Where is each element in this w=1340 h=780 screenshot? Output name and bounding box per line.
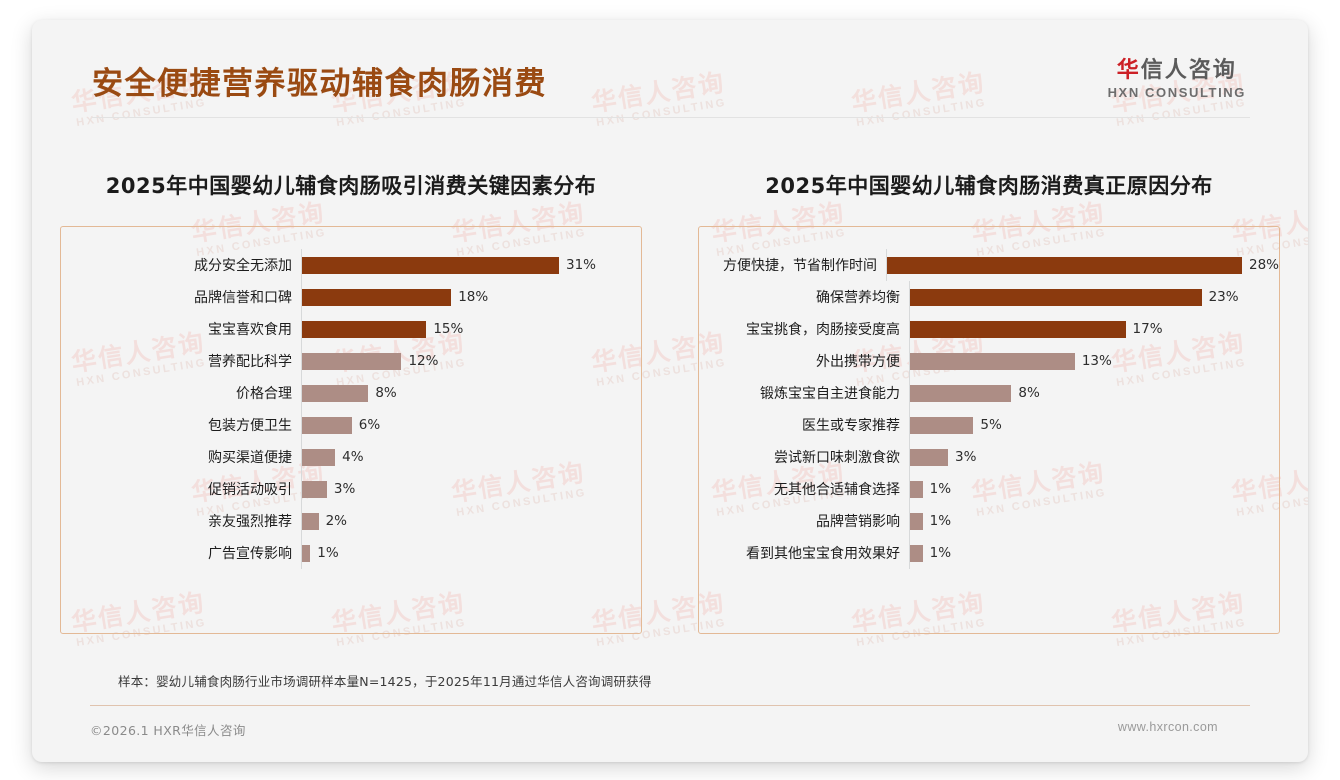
- bar-category-label: 品牌营销影响: [699, 511, 909, 531]
- bar-rows-right: 方便快捷，节省制作时间28%确保营养均衡23%宝宝挑食，肉肠接受度高17%外出携…: [699, 249, 1279, 569]
- bar-value-label: 23%: [1209, 289, 1239, 305]
- bar-value-label: 3%: [955, 449, 976, 465]
- chart-frame-right: 方便快捷，节省制作时间28%确保营养均衡23%宝宝挑食，肉肠接受度高17%外出携…: [698, 226, 1280, 634]
- bar-row: 购买渠道便捷4%: [61, 441, 641, 473]
- page-title: 安全便捷营养驱动辅食肉肠消费: [92, 58, 547, 103]
- bar-category-label: 宝宝喜欢食用: [61, 319, 301, 339]
- bar: [302, 513, 319, 530]
- bar-row: 成分安全无添加31%: [61, 249, 641, 281]
- bar-row: 价格合理8%: [61, 377, 641, 409]
- bar: [302, 545, 310, 562]
- bar-category-label: 尝试新口味刺激食欲: [699, 447, 909, 467]
- bar-track: 1%: [909, 537, 1279, 569]
- bar-track: 8%: [301, 377, 641, 409]
- chart-frame-left: 成分安全无添加31%品牌信誉和口碑18%宝宝喜欢食用15%营养配比科学12%价格…: [60, 226, 642, 634]
- bar-category-label: 价格合理: [61, 383, 301, 403]
- bar-value-label: 15%: [433, 321, 463, 337]
- slide-footer: ©2026.1 HXR华信人咨询 www.hxrcon.com: [32, 720, 1308, 740]
- bar-category-label: 营养配比科学: [61, 351, 301, 371]
- bar-track: 6%: [301, 409, 641, 441]
- bar-track: 1%: [301, 537, 641, 569]
- bar-track: 17%: [909, 313, 1279, 345]
- bar-track: 23%: [909, 281, 1279, 313]
- bar-row: 尝试新口味刺激食欲3%: [699, 441, 1279, 473]
- bar-category-label: 确保营养均衡: [699, 287, 909, 307]
- bar-category-label: 方便快捷，节省制作时间: [699, 255, 886, 275]
- bar-category-label: 成分安全无添加: [61, 255, 301, 275]
- bar-value-label: 3%: [334, 481, 355, 497]
- bar: [302, 321, 426, 338]
- bar: [910, 417, 973, 434]
- bar-value-label: 17%: [1133, 321, 1163, 337]
- bar-track: 28%: [886, 249, 1279, 281]
- bar-value-label: 28%: [1249, 257, 1279, 273]
- bar-row: 营养配比科学12%: [61, 345, 641, 377]
- bar-category-label: 无其他合适辅食选择: [699, 479, 909, 499]
- bar-value-label: 1%: [317, 545, 338, 561]
- bar-track: 31%: [301, 249, 641, 281]
- bar: [302, 289, 451, 306]
- bar: [302, 257, 559, 274]
- bar-value-label: 2%: [326, 513, 347, 529]
- bar-row: 无其他合适辅食选择1%: [699, 473, 1279, 505]
- bar-value-label: 8%: [375, 385, 396, 401]
- sample-note: 样本：婴幼儿辅食肉肠行业市场调研样本量N=1425，于2025年11月通过华信人…: [118, 671, 652, 690]
- bar-track: 8%: [909, 377, 1279, 409]
- bar-category-label: 医生或专家推荐: [699, 415, 909, 435]
- slide-canvas: 华信人咨询HXN CONSULTING华信人咨询HXN CONSULTING华信…: [32, 20, 1308, 762]
- brand-logo: 华信人咨询 HXN CONSULTING: [1108, 58, 1246, 100]
- bar-row: 宝宝喜欢食用15%: [61, 313, 641, 345]
- bar-row: 品牌营销影响1%: [699, 505, 1279, 537]
- bar-value-label: 1%: [930, 545, 951, 561]
- bar-value-label: 18%: [458, 289, 488, 305]
- bar: [302, 353, 401, 370]
- bar-value-label: 1%: [930, 481, 951, 497]
- bar: [302, 449, 335, 466]
- bar-value-label: 12%: [408, 353, 438, 369]
- bar-track: 3%: [909, 441, 1279, 473]
- bar-category-label: 看到其他宝宝食用效果好: [699, 543, 909, 563]
- bar: [910, 545, 923, 562]
- bar-category-label: 包装方便卫生: [61, 415, 301, 435]
- bar: [910, 321, 1126, 338]
- bar: [910, 289, 1202, 306]
- bar-row: 促销活动吸引3%: [61, 473, 641, 505]
- footer-divider: [90, 705, 1250, 706]
- bar-value-label: 13%: [1082, 353, 1112, 369]
- bar-track: 18%: [301, 281, 641, 313]
- bar-row: 广告宣传影响1%: [61, 537, 641, 569]
- copyright-text: ©2026.1 HXR华信人咨询: [90, 720, 246, 739]
- bar-track: 4%: [301, 441, 641, 473]
- chart-panel-left: 2025年中国婴幼儿辅食肉肠吸引消费关键因素分布 成分安全无添加31%品牌信誉和…: [32, 130, 670, 634]
- bar-row: 宝宝挑食，肉肠接受度高17%: [699, 313, 1279, 345]
- bar: [302, 417, 352, 434]
- website-url: www.hxrcon.com: [1118, 720, 1218, 734]
- bar: [910, 449, 948, 466]
- bar-category-label: 品牌信誉和口碑: [61, 287, 301, 307]
- chart-panel-right: 2025年中国婴幼儿辅食肉肠消费真正原因分布 方便快捷，节省制作时间28%确保营…: [670, 130, 1308, 634]
- bar: [910, 385, 1011, 402]
- slide-header: 安全便捷营养驱动辅食肉肠消费 华信人咨询 HXN CONSULTING: [32, 20, 1308, 116]
- bar-track: 1%: [909, 473, 1279, 505]
- bar-track: 2%: [301, 505, 641, 537]
- bar-row: 确保营养均衡23%: [699, 281, 1279, 313]
- bar-row: 看到其他宝宝食用效果好1%: [699, 537, 1279, 569]
- header-divider: [92, 117, 1250, 118]
- bar-rows-left: 成分安全无添加31%品牌信誉和口碑18%宝宝喜欢食用15%营养配比科学12%价格…: [61, 249, 641, 569]
- logo-accent-char: 华: [1117, 58, 1141, 83]
- bar-row: 外出携带方便13%: [699, 345, 1279, 377]
- bar-row: 方便快捷，节省制作时间28%: [699, 249, 1279, 281]
- bar-category-label: 宝宝挑食，肉肠接受度高: [699, 319, 909, 339]
- bar-value-label: 6%: [359, 417, 380, 433]
- bar: [910, 513, 923, 530]
- bar-row: 品牌信誉和口碑18%: [61, 281, 641, 313]
- logo-rest-chars: 信人咨询: [1141, 58, 1237, 83]
- charts-container: 2025年中国婴幼儿辅食肉肠吸引消费关键因素分布 成分安全无添加31%品牌信誉和…: [32, 130, 1308, 634]
- chart-title-right: 2025年中国婴幼儿辅食肉肠消费真正原因分布: [670, 130, 1308, 200]
- bar: [910, 353, 1075, 370]
- bar-row: 亲友强烈推荐2%: [61, 505, 641, 537]
- bar-track: 3%: [301, 473, 641, 505]
- bar: [887, 257, 1242, 274]
- bar-row: 医生或专家推荐5%: [699, 409, 1279, 441]
- bar-track: 12%: [301, 345, 641, 377]
- bar-value-label: 31%: [566, 257, 596, 273]
- bar-category-label: 外出携带方便: [699, 351, 909, 371]
- bar-category-label: 购买渠道便捷: [61, 447, 301, 467]
- bar-track: 13%: [909, 345, 1279, 377]
- bar-value-label: 5%: [980, 417, 1001, 433]
- logo-chinese: 华信人咨询: [1108, 58, 1246, 83]
- bar: [302, 385, 368, 402]
- bar-category-label: 锻炼宝宝自主进食能力: [699, 383, 909, 403]
- chart-title-left: 2025年中国婴幼儿辅食肉肠吸引消费关键因素分布: [32, 130, 670, 200]
- bar-category-label: 广告宣传影响: [61, 543, 301, 563]
- bar-value-label: 4%: [342, 449, 363, 465]
- bar-track: 1%: [909, 505, 1279, 537]
- bar-value-label: 1%: [930, 513, 951, 529]
- bar-row: 锻炼宝宝自主进食能力8%: [699, 377, 1279, 409]
- bar-value-label: 8%: [1018, 385, 1039, 401]
- bar: [302, 481, 327, 498]
- bar-track: 5%: [909, 409, 1279, 441]
- bar-category-label: 促销活动吸引: [61, 479, 301, 499]
- bar-row: 包装方便卫生6%: [61, 409, 641, 441]
- bar-track: 15%: [301, 313, 641, 345]
- bar: [910, 481, 923, 498]
- logo-english: HXN CONSULTING: [1108, 85, 1246, 100]
- bar-category-label: 亲友强烈推荐: [61, 511, 301, 531]
